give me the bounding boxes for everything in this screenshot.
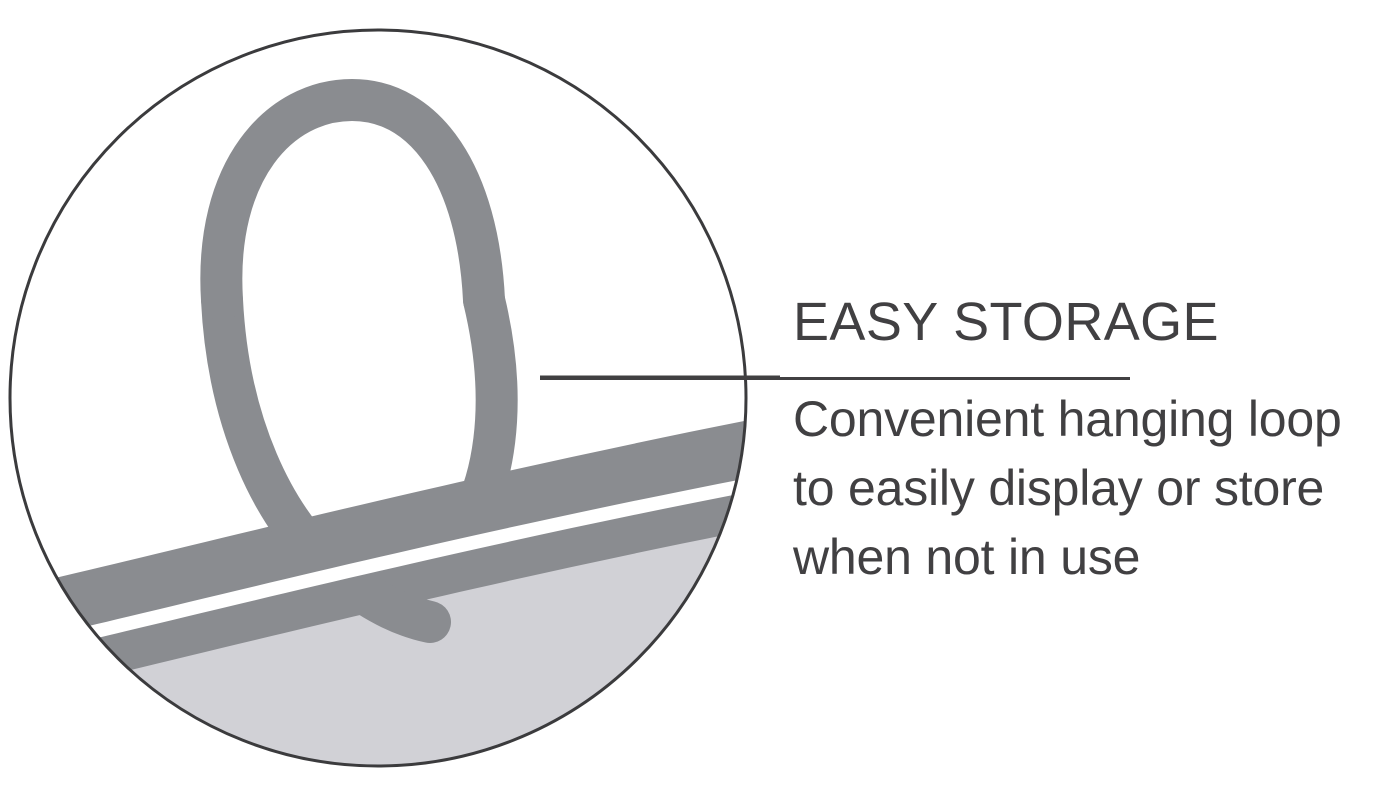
- callout-description-line-1: Convenient hanging loop: [793, 385, 1387, 454]
- callout-description-line-3: when not in use: [793, 523, 1387, 592]
- illustration-svg: [0, 0, 780, 805]
- callout-description: Convenient hanging loop to easily displa…: [793, 385, 1387, 592]
- callout-block: EASY STORAGE Convenient hanging loop to …: [793, 292, 1387, 592]
- hanging-loop-illustration: [0, 0, 780, 805]
- callout-description-line-2: to easily display or store: [793, 454, 1387, 523]
- callout-title: EASY STORAGE: [793, 292, 1387, 352]
- infographic-canvas: EASY STORAGE Convenient hanging loop to …: [0, 0, 1387, 805]
- callout-divider-rule: [540, 377, 1130, 380]
